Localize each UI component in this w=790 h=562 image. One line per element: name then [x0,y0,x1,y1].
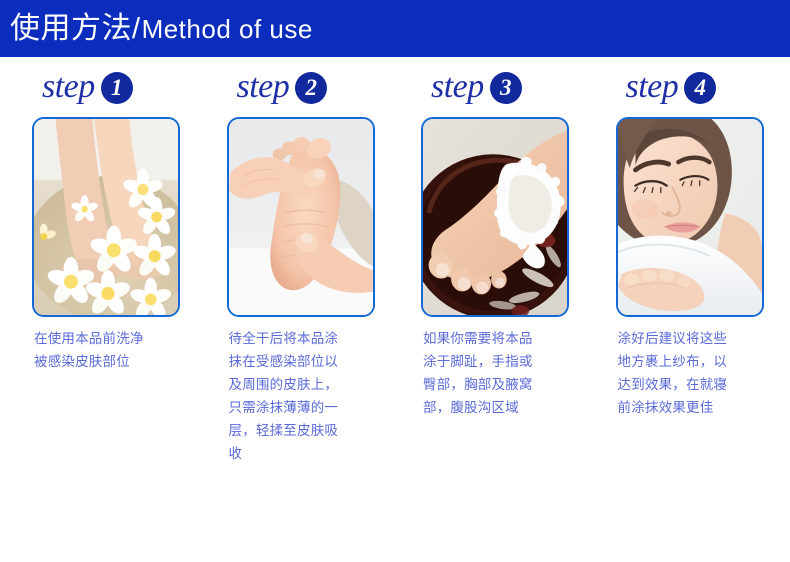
step-number-badge-2: 2 [295,72,327,104]
caption-line: 抹在受感染部位以 [229,350,389,373]
caption-line: 在使用本品前洗净 [34,327,194,350]
woman-sleeping-on-white-pillow-illustration [618,119,762,315]
step-number-badge-4: 4 [684,72,716,104]
foot-over-dark-basin-with-white-towel-illustration [423,119,567,315]
step-number-badge-1: 1 [101,72,133,104]
hands-massaging-foot-sole-illustration [229,119,373,315]
page-title-chinese: 使用方法 [10,12,132,45]
caption-line: 待全干后将本品涂 [229,327,389,350]
step-image-3 [421,117,569,317]
caption-line: 如果你需要将本品 [423,327,583,350]
step-label-4: step [626,70,679,104]
step-heading-3: step 3 [409,57,596,117]
step-image-2 [227,117,375,317]
caption-line: 部，腹股沟区域 [423,396,583,419]
step-caption-4: 涂好后建议将这些 地方裹上纱布，以 达到效果，在就寝 前涂抹效果更佳 [618,327,778,419]
step-heading-2: step 2 [215,57,402,117]
step-column-4: step 4 [604,57,790,419]
caption-line: 收 [229,442,389,465]
caption-line: 及周围的皮肤上， [229,373,389,396]
caption-line: 前涂抹效果更佳 [618,396,778,419]
page-title-english: Method of use [142,14,313,44]
caption-line: 只需涂抹薄薄的一 [229,396,389,419]
caption-line: 层，轻揉至皮肤吸 [229,419,389,442]
step-caption-2: 待全干后将本品涂 抹在受感染部位以 及周围的皮肤上， 只需涂抹薄薄的一 层，轻揉… [229,327,389,465]
step-label-3: step [431,70,484,104]
step-heading-1: step 1 [20,57,207,117]
step-column-2: step 2 [215,57,402,465]
caption-line: 涂于脚趾，手指或 [423,350,583,373]
step-caption-1: 在使用本品前洗净 被感染皮肤部位 [34,327,194,373]
caption-line: 达到效果，在就寝 [618,373,778,396]
caption-line: 臀部，胸部及腋窝 [423,373,583,396]
step-image-4 [616,117,764,317]
step-image-1 [32,117,180,317]
step-column-1: step 1 [20,57,207,373]
page-title: 使用方法/Method of use [0,14,313,44]
step-caption-3: 如果你需要将本品 涂于脚趾，手指或 臀部，胸部及腋窝 部，腹股沟区域 [423,327,583,419]
caption-line: 地方裹上纱布，以 [618,350,778,373]
step-heading-4: step 4 [604,57,790,117]
page-title-separator: / [132,13,141,45]
step-label-1: step [42,70,95,104]
caption-line: 涂好后建议将这些 [618,327,778,350]
steps-row: step 1 [0,57,790,562]
caption-line: 被感染皮肤部位 [34,350,194,373]
header-banner: 使用方法/Method of use [0,0,790,57]
step-label-2: step [237,70,290,104]
feet-soaking-in-water-with-plumeria-flowers-illustration [34,119,178,315]
step-column-3: step 3 [409,57,596,419]
step-number-badge-3: 3 [490,72,522,104]
